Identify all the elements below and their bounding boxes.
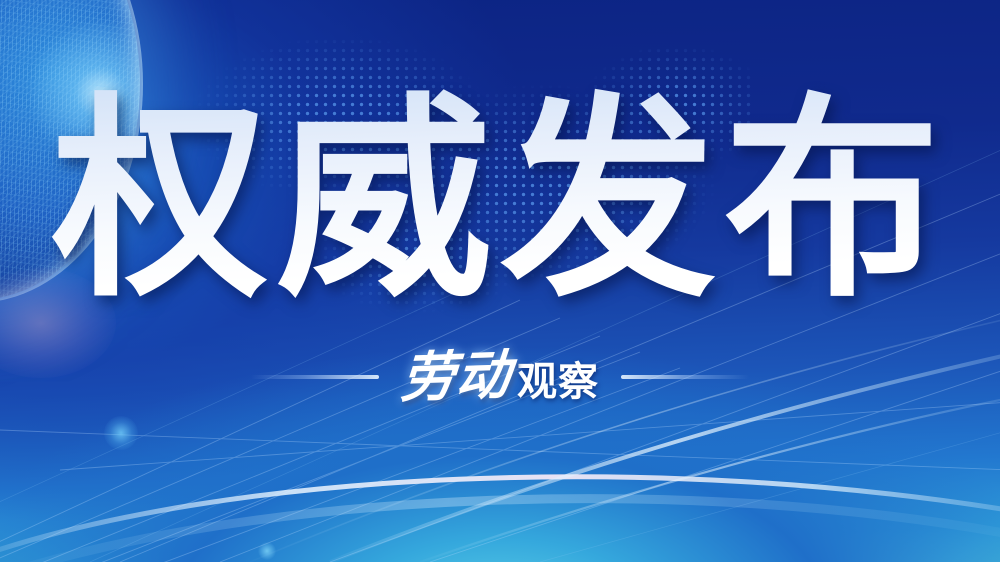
brand-subtitle-block: 观察 — [517, 360, 599, 404]
bokeh-dot-small — [258, 542, 276, 560]
brand-subtitle-script: 劳动 — [399, 346, 513, 408]
bokeh-dot-large — [104, 416, 138, 450]
horizontal-rule-right-icon — [621, 375, 749, 379]
brand-subtitle: 劳动 观察 — [401, 348, 599, 406]
authoritative-release-banner: 权威发布 劳动 观察 — [0, 0, 1000, 562]
subtitle-row: 劳动 观察 — [0, 348, 1000, 406]
page-title: 权威发布 — [0, 86, 1000, 314]
horizontal-rule-left-icon — [251, 375, 379, 379]
